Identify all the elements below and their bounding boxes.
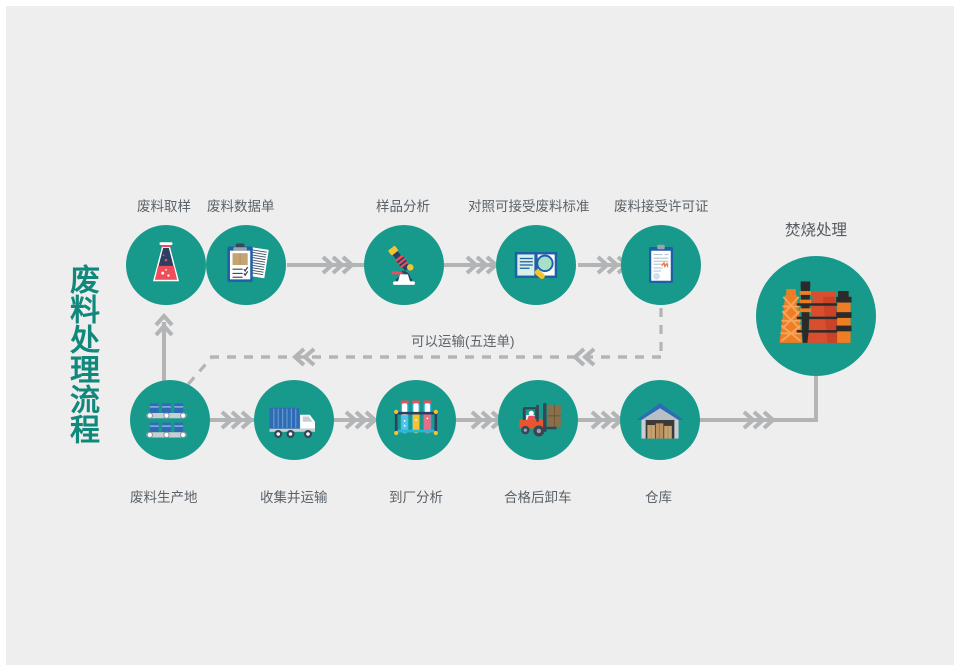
node-plant-analysis[interactable] <box>376 380 456 460</box>
label-waste-sampling: 废料取样 <box>137 199 191 215</box>
clipboard-document-icon <box>219 238 273 292</box>
forklift-icon <box>511 393 565 447</box>
node-unload-after-pass[interactable] <box>498 380 578 460</box>
microscope-icon <box>379 240 429 290</box>
label-compare-standards: 对照可接受废料标准 <box>468 199 590 215</box>
node-collect-transport[interactable] <box>254 380 334 460</box>
label-transport-allowed: 可以运输(五连单) <box>411 334 515 350</box>
flask-icon <box>140 239 192 291</box>
label-plant-analysis: 到厂分析 <box>389 490 443 506</box>
certificate-icon <box>637 241 685 289</box>
flowchart-canvas: 废料处理流程 <box>0 0 960 671</box>
node-compare-standards[interactable] <box>496 225 576 305</box>
node-warehouse[interactable] <box>620 380 700 460</box>
label-waste-origin: 废料生产地 <box>130 490 198 506</box>
book-magnifier-icon <box>510 239 562 291</box>
node-waste-sampling[interactable] <box>126 225 206 305</box>
node-waste-data-sheet[interactable] <box>206 225 286 305</box>
node-waste-origin[interactable] <box>130 380 210 460</box>
label-collect-transport: 收集并运输 <box>260 490 328 506</box>
label-acceptance-permit: 废料接受许可证 <box>614 199 709 215</box>
warehouse-icon <box>633 393 687 447</box>
label-warehouse: 仓库 <box>645 490 672 506</box>
test-tube-rack-icon <box>390 394 442 446</box>
label-incineration: 焚烧处理 <box>785 222 847 241</box>
node-sample-analysis[interactable] <box>364 225 444 305</box>
conveyor-boxes-icon <box>142 392 198 448</box>
label-waste-data-sheet: 废料数据单 <box>207 199 275 215</box>
node-incineration[interactable] <box>756 256 876 376</box>
node-acceptance-permit[interactable] <box>621 225 701 305</box>
refinery-plant-icon <box>768 268 864 364</box>
page-title: 废料处理流程 <box>52 264 96 444</box>
label-unload-after-pass: 合格后卸车 <box>504 490 572 506</box>
label-sample-analysis: 样品分析 <box>376 199 430 215</box>
container-truck-icon <box>266 392 322 448</box>
